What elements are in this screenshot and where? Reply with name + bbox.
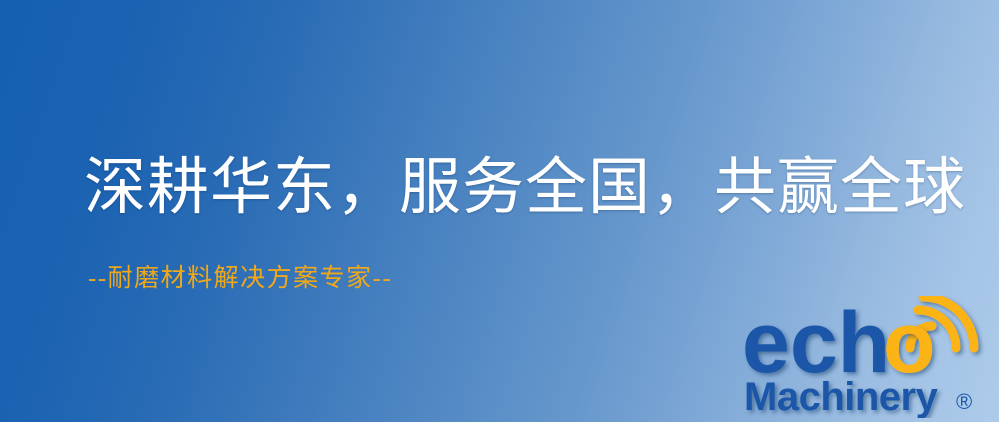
registered-trademark-icon: ® xyxy=(956,389,972,414)
banner-subtitle: --耐磨材料解决方案专家-- xyxy=(88,264,392,294)
promo-banner: 深耕华东，服务全国，共赢全球 --耐磨材料解决方案专家-- ech o xyxy=(0,0,999,422)
logo-tagline-group: Machinery xyxy=(744,375,939,418)
echo-machinery-logo[interactable]: ech o Machinery ® xyxy=(742,296,994,418)
logo-tagline: Machinery xyxy=(744,375,939,418)
banner-headline: 深耕华东，服务全国，共赢全球 xyxy=(84,152,966,224)
